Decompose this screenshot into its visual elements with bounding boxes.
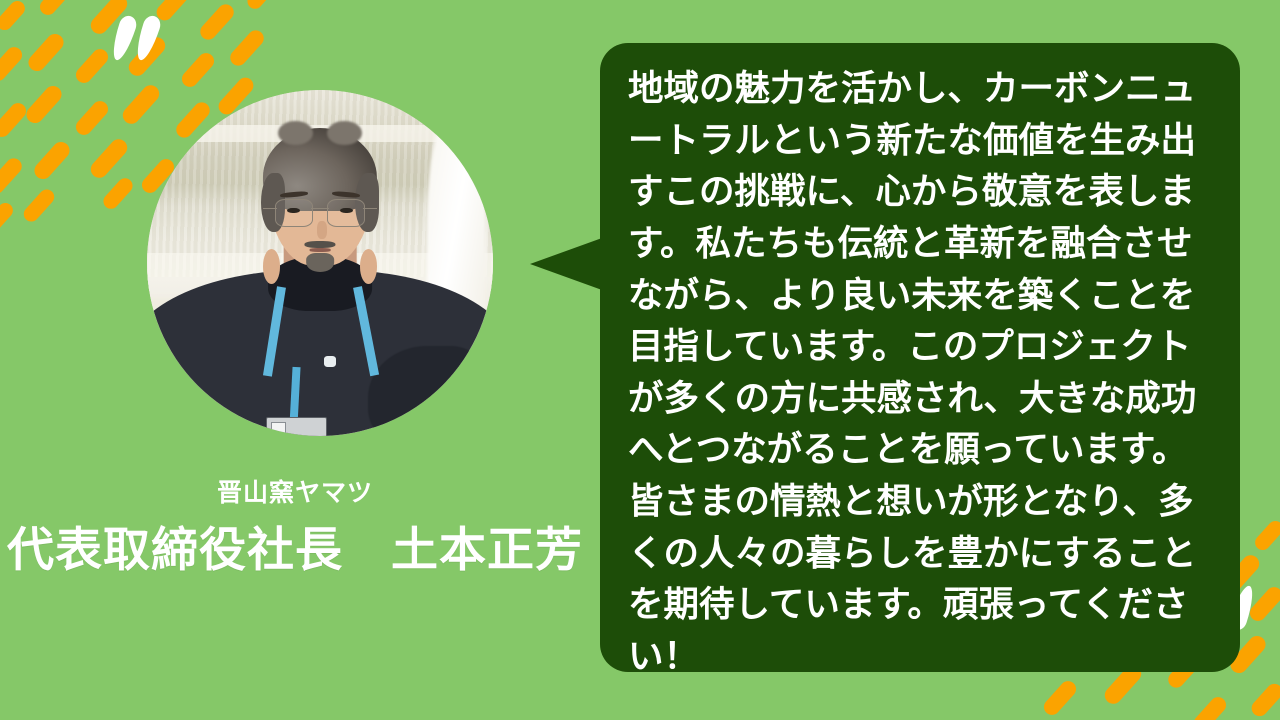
dash — [0, 0, 28, 33]
speech-bubble-line: が多くの方に共感され、大きな成功 — [628, 373, 1214, 425]
speech-bubble-line: くの人々の暮らしを豊かにすること — [628, 528, 1214, 580]
dash — [23, 82, 65, 126]
dash — [244, 0, 279, 12]
dash — [0, 155, 25, 197]
dash — [1041, 678, 1080, 718]
speech-bubble-line: を期待しています。頑張ってくださ — [628, 579, 1214, 631]
dash — [179, 50, 218, 90]
dash — [1252, 518, 1280, 553]
dash — [100, 175, 135, 212]
speaker-caption: 晋山窯ヤマツ 代表取締役社長 土本正芳 — [0, 478, 590, 577]
portrait-photo — [147, 90, 493, 436]
dash — [21, 186, 58, 224]
speech-bubble-line: へとつながることを願っています。 — [628, 424, 1214, 476]
quote-mark-icon — [106, 14, 160, 60]
dash — [1191, 694, 1230, 720]
speech-bubble-line: す。私たちも伝統と革新を融合させ — [628, 218, 1214, 270]
slide-canvas: 晋山窯ヤマツ 代表取締役社長 土本正芳 地域の魅力を活かし、カーボンニュートラル… — [0, 0, 1280, 720]
speech-bubble-line: すこの挑戦に、心から敬意を表しま — [628, 166, 1214, 218]
speech-bubble-tail — [530, 238, 602, 290]
id-badge — [266, 417, 327, 436]
dash — [87, 136, 130, 182]
dash — [31, 138, 73, 182]
dash — [1248, 681, 1280, 720]
speech-bubble: 地域の魅力を活かし、カーボンニュートラルという新たな価値を生み出すこの挑戦に、心… — [600, 43, 1240, 672]
dash — [0, 44, 25, 84]
speech-bubble-text: 地域の魅力を活かし、カーボンニュートラルという新たな価値を生み出すこの挑戦に、心… — [628, 63, 1214, 683]
person-title-and-name: 代表取締役社長 土本正芳 — [0, 522, 590, 577]
avatar — [147, 90, 493, 436]
company-name: 晋山窯ヤマツ — [0, 478, 590, 508]
dash — [0, 200, 16, 235]
dash — [0, 100, 29, 140]
dash — [25, 30, 67, 74]
speech-bubble-line: ながら、より良い未来を築くことを — [628, 270, 1214, 322]
dash — [227, 27, 267, 69]
speech-bubble-line: い！ — [628, 631, 1214, 683]
dash — [73, 98, 112, 138]
dash — [37, 0, 76, 18]
dash — [197, 1, 237, 43]
speech-bubble-line: ートラルという新たな価値を生み出 — [628, 115, 1214, 167]
speech-bubble-line: 目指しています。このプロジェクト — [628, 321, 1214, 373]
speech-bubble-line: 地域の魅力を活かし、カーボンニュ — [628, 63, 1214, 115]
speech-bubble-line: 皆さまの情熱と想いが形となり、多 — [628, 476, 1214, 528]
